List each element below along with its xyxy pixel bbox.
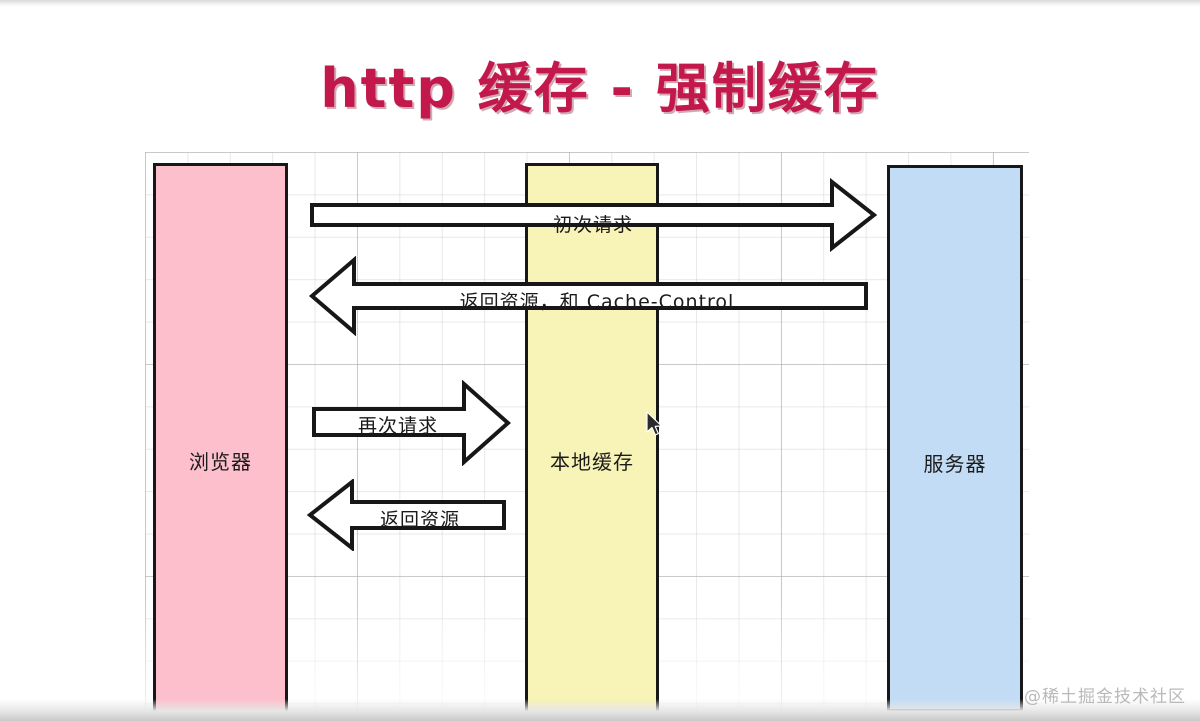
arrow-return-resource-cache-control-label: 返回资源，和 Cache-Control [330,287,864,314]
mouse-cursor-icon [646,411,664,442]
lifeline-local-cache-label: 本地缓存 [528,446,656,475]
lifeline-browser[interactable]: 浏览器 [153,163,288,721]
arrow-second-request-label: 再次请求 [318,411,478,438]
lifeline-server-label: 服务器 [890,448,1020,477]
lifeline-server[interactable]: 服务器 [887,165,1023,712]
diagram-canvas: http 缓存 - 强制缓存 浏览器 本地缓存 服务器 初次请求 返回资源，和 … [0,0,1200,721]
lifeline-browser-label: 浏览器 [156,446,285,475]
video-letterbox-top [0,0,1200,7]
page-title: http 缓存 - 强制缓存 [0,44,1200,123]
watermark: @稀土掘金技术社区 [1024,682,1186,707]
arrow-return-resource-label: 返回资源 [345,505,495,532]
arrow-initial-request-label: 初次请求 [310,210,876,237]
